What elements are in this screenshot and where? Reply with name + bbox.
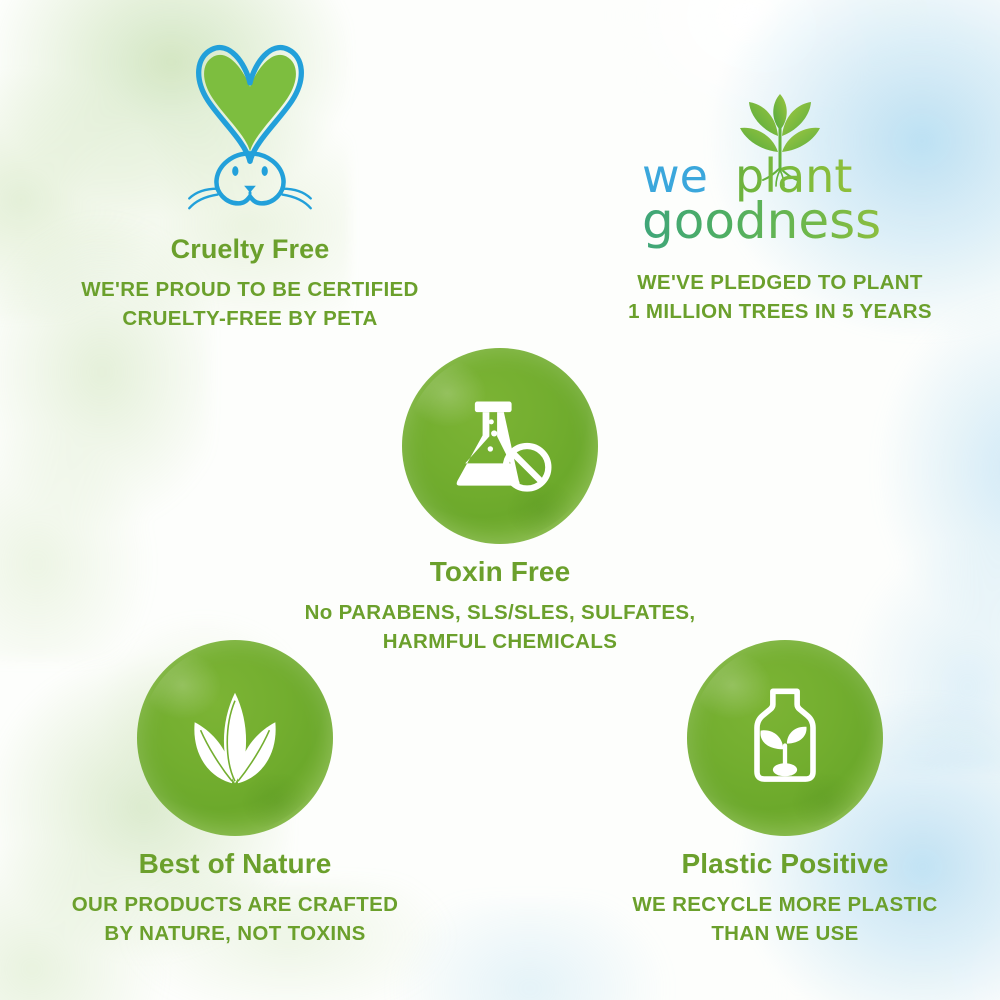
we-plant-goodness-logo: we plant goodness [570, 96, 990, 246]
sprout-soil [773, 763, 797, 776]
bunny-whisker-left-1 [189, 189, 217, 199]
badge-subtitle-line: 1 MILLION TREES IN 5 YEARS [570, 297, 990, 326]
badge-subtitle-line: CRUELTY-FREE BY PETA [40, 304, 460, 333]
badge-subtitle-line: WE'RE PROUD TO BE CERTIFIED [40, 275, 460, 304]
bunny-whisker-right-2 [282, 195, 310, 209]
badge-we-plant-goodness: we plant goodness WE'VE PLEDGED TO PLANT… [570, 96, 990, 326]
three-leaves-icon [25, 640, 445, 836]
badge-subtitle-line: WE RECYCLE MORE PLASTIC [575, 890, 995, 919]
badge-subtitle-line: OUR PRODUCTS ARE CRAFTED [25, 890, 445, 919]
watercolor-disc [687, 640, 883, 836]
infographic-canvas: Cruelty Free WE'RE PROUD TO BE CERTIFIED… [0, 0, 1000, 1000]
badge-subtitle-line: No PARABENS, SLS/SLES, SULFATES, [290, 598, 710, 627]
flask-bubble-4 [476, 471, 481, 476]
badge-toxin-free: Toxin Free No PARABENS, SLS/SLES, SULFAT… [290, 348, 710, 656]
badge-cruelty-free: Cruelty Free WE'RE PROUD TO BE CERTIFIED… [40, 26, 460, 333]
flask-cap [475, 402, 512, 413]
bunny-whisker-right-1 [282, 189, 310, 199]
badge-title: Best of Nature [25, 848, 445, 880]
badge-subtitle-line: BY NATURE, NOT TOXINS [25, 919, 445, 948]
watercolor-disc [402, 348, 598, 544]
flask-bubble-3 [488, 446, 493, 451]
logo-word-goodness: goodness [642, 192, 881, 250]
badge-subtitle-lead: No [305, 601, 333, 624]
badge-subtitle: WE RECYCLE MORE PLASTIC THAN WE USE [575, 890, 995, 948]
bunny-ears-heart-fill [204, 55, 296, 152]
prohibition-slash [514, 454, 540, 480]
sprout-leaf-right [787, 727, 807, 744]
badge-subtitle: WE'VE PLEDGED TO PLANT 1 MILLION TREES I… [570, 268, 990, 326]
badge-subtitle: OUR PRODUCTS ARE CRAFTED BY NATURE, NOT … [25, 890, 445, 948]
sprout-leaf-left [760, 730, 783, 749]
bunny-eye-right [262, 166, 268, 176]
badge-subtitle: WE'RE PROUD TO BE CERTIFIED CRUELTY-FREE… [40, 275, 460, 333]
bottle-sprout-icon [575, 640, 995, 836]
badge-title: Plastic Positive [575, 848, 995, 880]
badge-subtitle-line: THAN WE USE [575, 919, 995, 948]
badge-subtitle-line: WE'VE PLEDGED TO PLANT [570, 268, 990, 297]
peta-bunny-icon [40, 26, 460, 222]
no-chemicals-flask-icon [290, 348, 710, 544]
bunny-whisker-left-2 [189, 195, 217, 209]
badge-title: Cruelty Free [40, 234, 460, 265]
flask-bubble-1 [489, 419, 494, 424]
badge-best-of-nature: Best of Nature OUR PRODUCTS ARE CRAFTED … [25, 640, 445, 948]
badge-subtitle-rest: PARABENS, SLS/SLES, SULFATES, [333, 601, 696, 624]
bunny-eye-left [232, 166, 238, 176]
flask-bubble-2 [491, 430, 497, 436]
badge-title: Toxin Free [290, 556, 710, 588]
badge-plastic-positive: Plastic Positive WE RECYCLE MORE PLASTIC… [575, 640, 995, 948]
watercolor-disc [137, 640, 333, 836]
